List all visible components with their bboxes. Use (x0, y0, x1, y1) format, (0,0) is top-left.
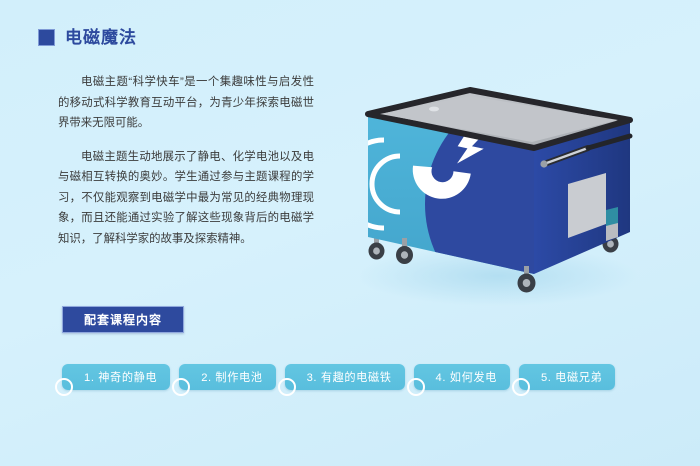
circle-notch-icon (278, 378, 296, 396)
top-latch (429, 107, 439, 112)
circle-notch-icon (512, 378, 530, 396)
course-chip-3[interactable]: 3. 有趣的电磁铁 (285, 364, 405, 390)
course-chip-label: 4. 如何发电 (436, 369, 497, 385)
page-title-label: 电磁魔法 (65, 29, 137, 46)
poster-page: 电磁魔法 电磁主题“科学快车”是一个集趣味性与启发性的移动式科学教育互动平台，为… (0, 0, 700, 466)
course-chip-5[interactable]: 5. 电磁兄弟 (519, 364, 615, 390)
course-chip-label: 1. 神奇的静电 (84, 369, 157, 385)
course-chip-4[interactable]: 4. 如何发电 (414, 364, 510, 390)
description-block: 电磁主题“科学快车”是一个集趣味性与启发性的移动式科学教育互动平台，为青少年探索… (58, 72, 314, 262)
circle-notch-icon (407, 378, 425, 396)
course-chip-label: 3. 有趣的电磁铁 (307, 369, 392, 385)
paragraph-2: 电磁主题生动地展示了静电、化学电池以及电与磁相互转换的奥妙。学生通过参与主题课程… (58, 147, 314, 250)
course-chip-1[interactable]: 1. 神奇的静电 (62, 364, 170, 390)
course-chip-label: 5. 电磁兄弟 (541, 369, 602, 385)
blue-square-icon (38, 29, 55, 46)
course-chip-2[interactable]: 2. 制作电池 (179, 364, 275, 390)
paragraph-1: 电磁主题“科学快车”是一个集趣味性与启发性的移动式科学教育互动平台，为青少年探索… (58, 72, 314, 134)
course-chip-label: 2. 制作电池 (201, 369, 262, 385)
course-chip-row: 1. 神奇的静电 2. 制作电池 3. 有趣的电磁铁 4. 如何发电 5. 电磁… (62, 364, 615, 390)
circle-notch-icon (55, 378, 73, 396)
mobile-science-cart-image (338, 52, 658, 312)
page-title: 电磁魔法 (38, 29, 137, 46)
circle-notch-icon (172, 378, 190, 396)
course-content-button[interactable]: 配套课程内容 (62, 306, 184, 333)
